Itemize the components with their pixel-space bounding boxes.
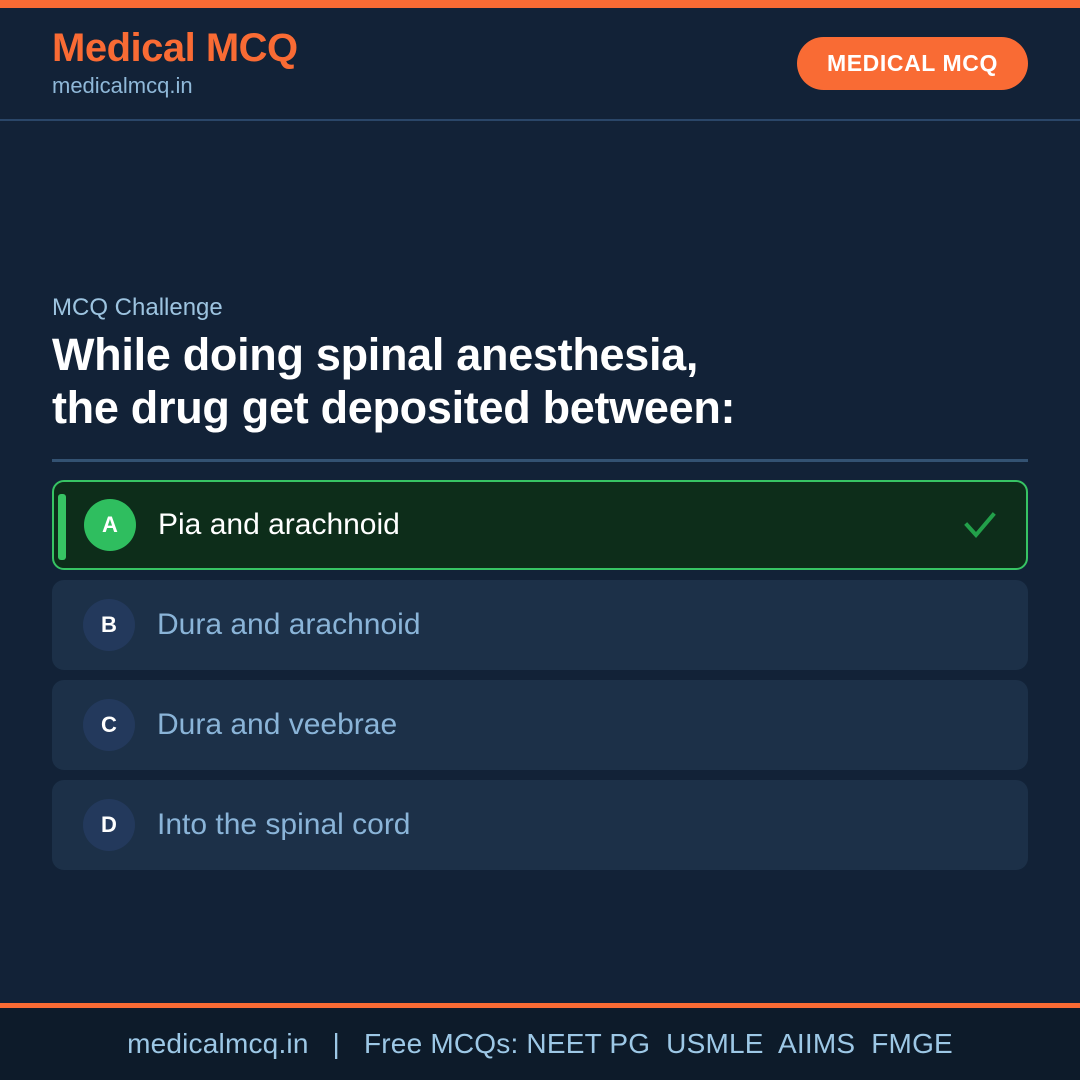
content: MCQ Challenge While doing spinal anesthe… — [0, 121, 1080, 1003]
option-a-label: Pia and arachnoid — [158, 507, 400, 543]
check-icon — [960, 505, 1000, 545]
mcq-card: Medical MCQ medicalmcq.in MEDICAL MCQ MC… — [0, 0, 1080, 1080]
option-a-badge: A — [84, 499, 136, 551]
option-c-badge: C — [83, 699, 135, 751]
option-d[interactable]: D Into the spinal cord — [52, 780, 1028, 870]
question-eyebrow: MCQ Challenge — [52, 293, 1028, 323]
question-block: MCQ Challenge While doing spinal anesthe… — [52, 293, 1028, 434]
brand-badge: MEDICAL MCQ — [797, 37, 1028, 90]
footer: medicalmcq.in | Free MCQs: NEET PG USMLE… — [0, 1008, 1080, 1080]
option-c-label: Dura and veebrae — [157, 707, 397, 743]
option-c[interactable]: C Dura and veebrae — [52, 680, 1028, 770]
footer-text: medicalmcq.in | Free MCQs: NEET PG USMLE… — [127, 1028, 953, 1060]
option-b[interactable]: B Dura and arachnoid — [52, 580, 1028, 670]
question-text: While doing spinal anesthesia, the drug … — [52, 329, 1028, 434]
brand: Medical MCQ medicalmcq.in — [52, 27, 298, 101]
brand-title: Medical MCQ — [52, 27, 298, 69]
option-b-label: Dura and arachnoid — [157, 607, 421, 643]
top-accent-bar — [0, 0, 1080, 8]
brand-subtitle: medicalmcq.in — [52, 72, 298, 101]
question-divider — [52, 459, 1028, 462]
option-d-label: Into the spinal cord — [157, 807, 411, 843]
header: Medical MCQ medicalmcq.in MEDICAL MCQ — [0, 8, 1080, 121]
options-list: A Pia and arachnoid B Dura and arachnoid… — [52, 480, 1028, 870]
option-a[interactable]: A Pia and arachnoid — [52, 480, 1028, 570]
option-d-badge: D — [83, 799, 135, 851]
option-b-badge: B — [83, 599, 135, 651]
